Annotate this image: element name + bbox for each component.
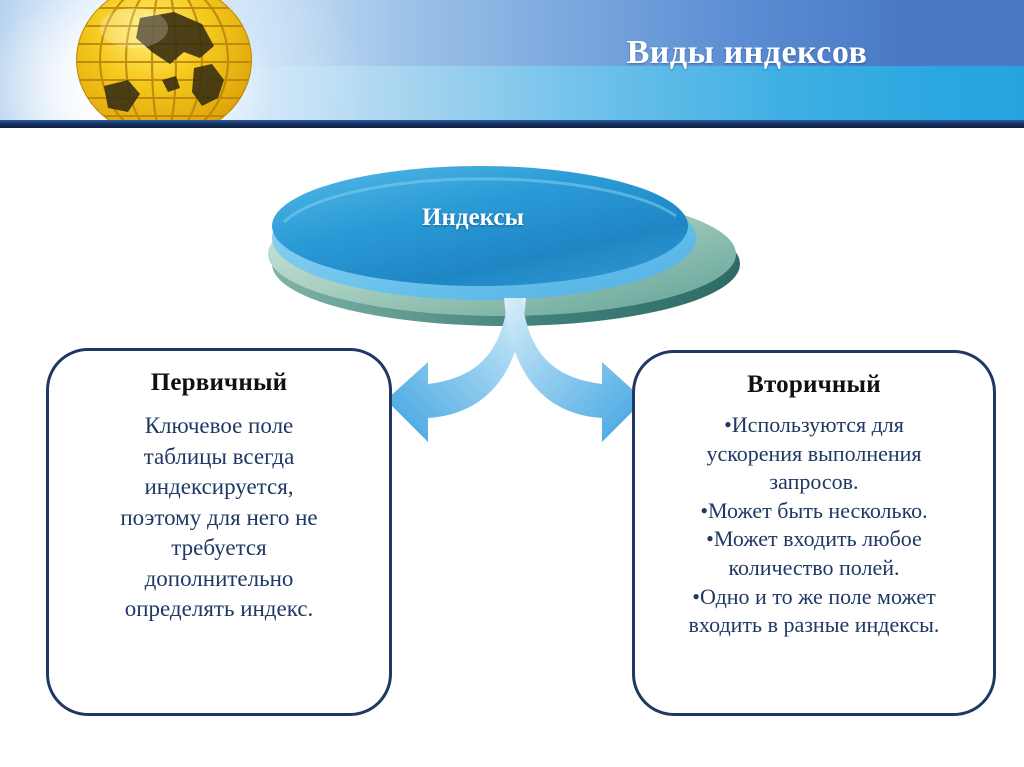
header-bottom-strip (0, 120, 1024, 128)
text-line: дополнительно (67, 564, 371, 595)
text-line: индексируется, (67, 472, 371, 503)
list-item: •Одно и то же поле может (645, 583, 983, 612)
branch-card-primary[interactable]: Первичный Ключевое поле таблицы всегда и… (46, 348, 392, 716)
bullet-text: Одно и то же поле может (700, 584, 936, 609)
list-item-cont: запросов. (645, 468, 983, 497)
page-title: Виды индексов (512, 34, 982, 72)
branch-heading-primary: Первичный (49, 369, 389, 397)
bullet-marker: • (724, 412, 732, 437)
list-item: •Может входить любое (645, 525, 983, 554)
connector-arrows (380, 296, 650, 456)
list-item: •Может быть несколько. (645, 497, 983, 526)
bullet-marker: • (692, 584, 700, 609)
list-item: •Используются для (645, 411, 983, 440)
list-item-cont: количество полей. (645, 554, 983, 583)
list-item-cont: ускорения выполнения (645, 440, 983, 469)
bullet-text: Используются для (732, 412, 904, 437)
text-line: требуется (67, 533, 371, 564)
text-line: поэтому для него не (67, 503, 371, 534)
bullet-text: Может входить любое (714, 526, 922, 551)
arrow-to-secondary (504, 298, 644, 442)
branch-body-primary: Ключевое поле таблицы всегда индексирует… (67, 411, 371, 625)
text-line: определять индекс. (67, 594, 371, 625)
branch-card-secondary[interactable]: Вторичный •Используются для ускорения вы… (632, 350, 996, 716)
branch-heading-secondary: Вторичный (635, 371, 993, 399)
branch-body-secondary: •Используются для ускорения выполнения з… (645, 411, 983, 640)
text-line: Ключевое поле (67, 411, 371, 442)
list-item-cont: входить в разные индексы. (645, 611, 983, 640)
bullet-marker: • (706, 526, 714, 551)
arrow-to-primary (386, 298, 526, 442)
globe-icon (44, 0, 276, 128)
bullet-text: Может быть несколько. (708, 498, 928, 523)
bullet-marker: • (700, 498, 708, 523)
header-banner: Виды индексов (0, 0, 1024, 128)
text-line: таблицы всегда (67, 442, 371, 473)
